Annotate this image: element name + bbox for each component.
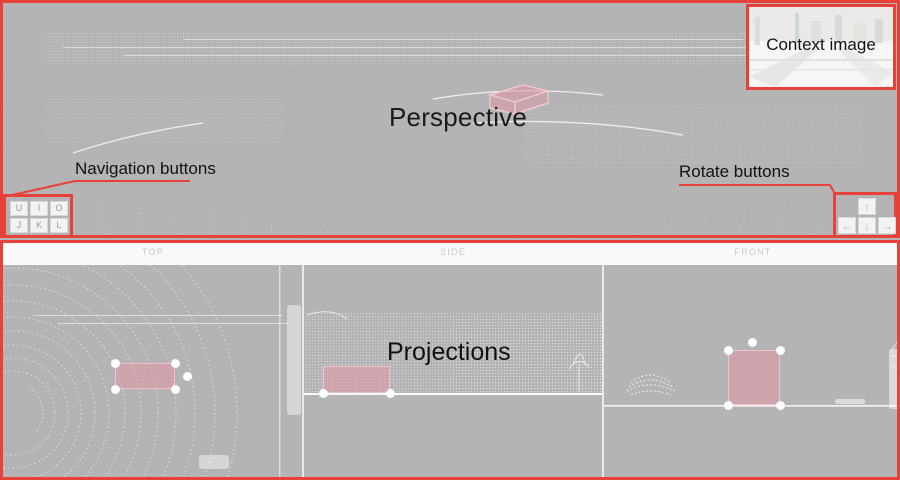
context-image-panel[interactable]: Context image [746,4,896,90]
navigation-callout-leader [0,155,280,200]
bounding-box-side[interactable] [323,366,390,393]
projections-header: TOP SIDE FRONT [3,243,897,265]
key-j[interactable]: J [10,218,28,233]
annotation-tool-root: Perspective Context image U I O J K L [0,0,900,480]
handle-top-nw[interactable] [111,359,120,368]
panel-divider-left [302,265,304,480]
handle-front-rotate[interactable] [748,338,757,347]
bounding-box-front[interactable] [728,350,780,405]
navigation-buttons[interactable]: U I O J K L [3,194,73,238]
key-arrow-down[interactable]: ↓ [858,217,876,234]
key-u[interactable]: U [10,201,28,216]
handle-side-sw[interactable] [319,389,328,398]
key-l[interactable]: L [50,218,68,233]
panel-title-side: SIDE [303,247,603,257]
panel-side[interactable] [303,265,603,480]
handle-top-rotate[interactable] [183,372,192,381]
handle-top-se[interactable] [171,385,180,394]
key-o[interactable]: O [50,201,68,216]
key-i[interactable]: I [30,201,48,216]
key-arrow-left[interactable]: ← [838,217,856,234]
handle-front-se[interactable] [776,401,785,410]
handle-front-nw[interactable] [724,346,733,355]
panel-divider-right [602,265,604,480]
handle-top-ne[interactable] [171,359,180,368]
panel-title-front: FRONT [603,247,900,257]
perspective-view-label: Perspective [389,102,527,133]
handle-front-ne[interactable] [776,346,785,355]
bounding-box-top[interactable] [115,363,175,389]
context-image-label: Context image [749,35,893,55]
panel-front[interactable] [603,265,900,480]
handle-side-se[interactable] [386,389,395,398]
key-k[interactable]: K [30,218,48,233]
rotate-callout-leader [660,158,900,200]
key-arrow-up[interactable]: ↑ [858,198,876,215]
projections-label: Projections [387,338,511,367]
handle-front-sw[interactable] [724,401,733,410]
key-arrow-right[interactable]: → [878,217,896,234]
panel-title-top: TOP [3,247,303,257]
panel-top[interactable] [3,265,303,480]
handle-top-sw[interactable] [111,385,120,394]
